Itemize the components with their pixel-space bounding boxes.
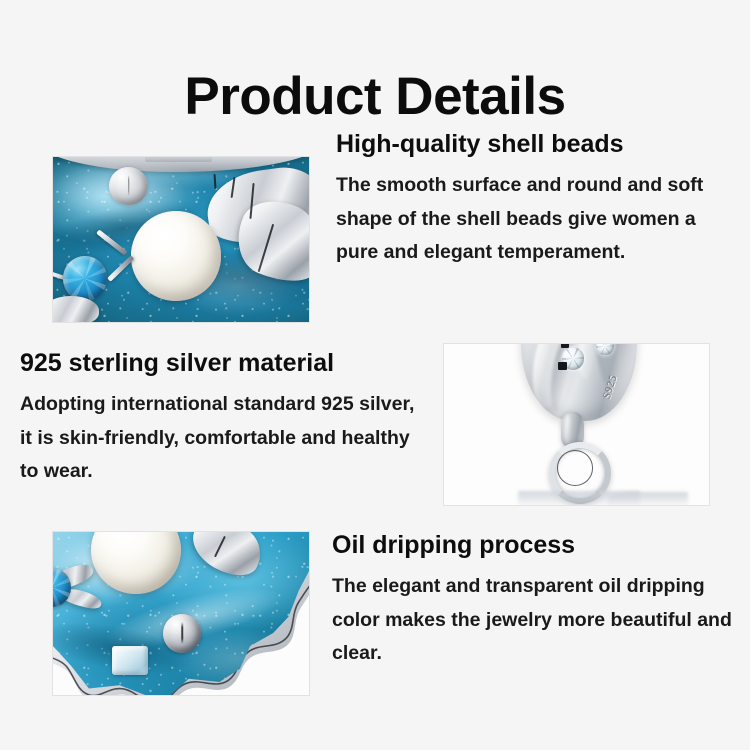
- photo-content-3: [53, 532, 309, 695]
- section-heading-oil-dripping: Oil dripping process: [332, 530, 732, 560]
- product-details-page: Product Details: [0, 0, 750, 750]
- section-shell-beads: High-quality shell beads The smooth surf…: [336, 129, 736, 270]
- section-body-oil-dripping: The elegant and transparent oil dripping…: [332, 570, 732, 671]
- square-stone: [112, 646, 148, 675]
- photo-content-1: [53, 157, 309, 322]
- enamel-sheen: [53, 157, 309, 322]
- page-title: Product Details: [0, 69, 750, 125]
- setting-notch: [561, 344, 569, 348]
- section-sterling-silver: 925 sterling silver material Adopting in…: [20, 348, 430, 489]
- neck-highlight: [565, 415, 572, 444]
- section-body-sterling-silver: Adopting international standard 925 silv…: [20, 388, 430, 489]
- setting-notch: [558, 362, 567, 370]
- surface-reflection: [608, 492, 688, 505]
- shell-bead-closeup-photo: [52, 156, 310, 323]
- bead-seam-line: [182, 622, 184, 644]
- sterling-silver-hallmark-photo: S925: [443, 343, 710, 506]
- oil-dripping-enamel-photo: [52, 531, 310, 696]
- section-heading-sterling-silver: 925 sterling silver material: [20, 348, 430, 378]
- section-body-shell-beads: The smooth surface and round and soft sh…: [336, 169, 736, 270]
- section-heading-shell-beads: High-quality shell beads: [336, 129, 736, 159]
- photo-content-2: S925: [444, 344, 709, 505]
- silver-bead: [163, 614, 201, 653]
- jump-ring-inner-edge: [557, 450, 593, 486]
- section-oil-dripping: Oil dripping process The elegant and tra…: [332, 530, 732, 671]
